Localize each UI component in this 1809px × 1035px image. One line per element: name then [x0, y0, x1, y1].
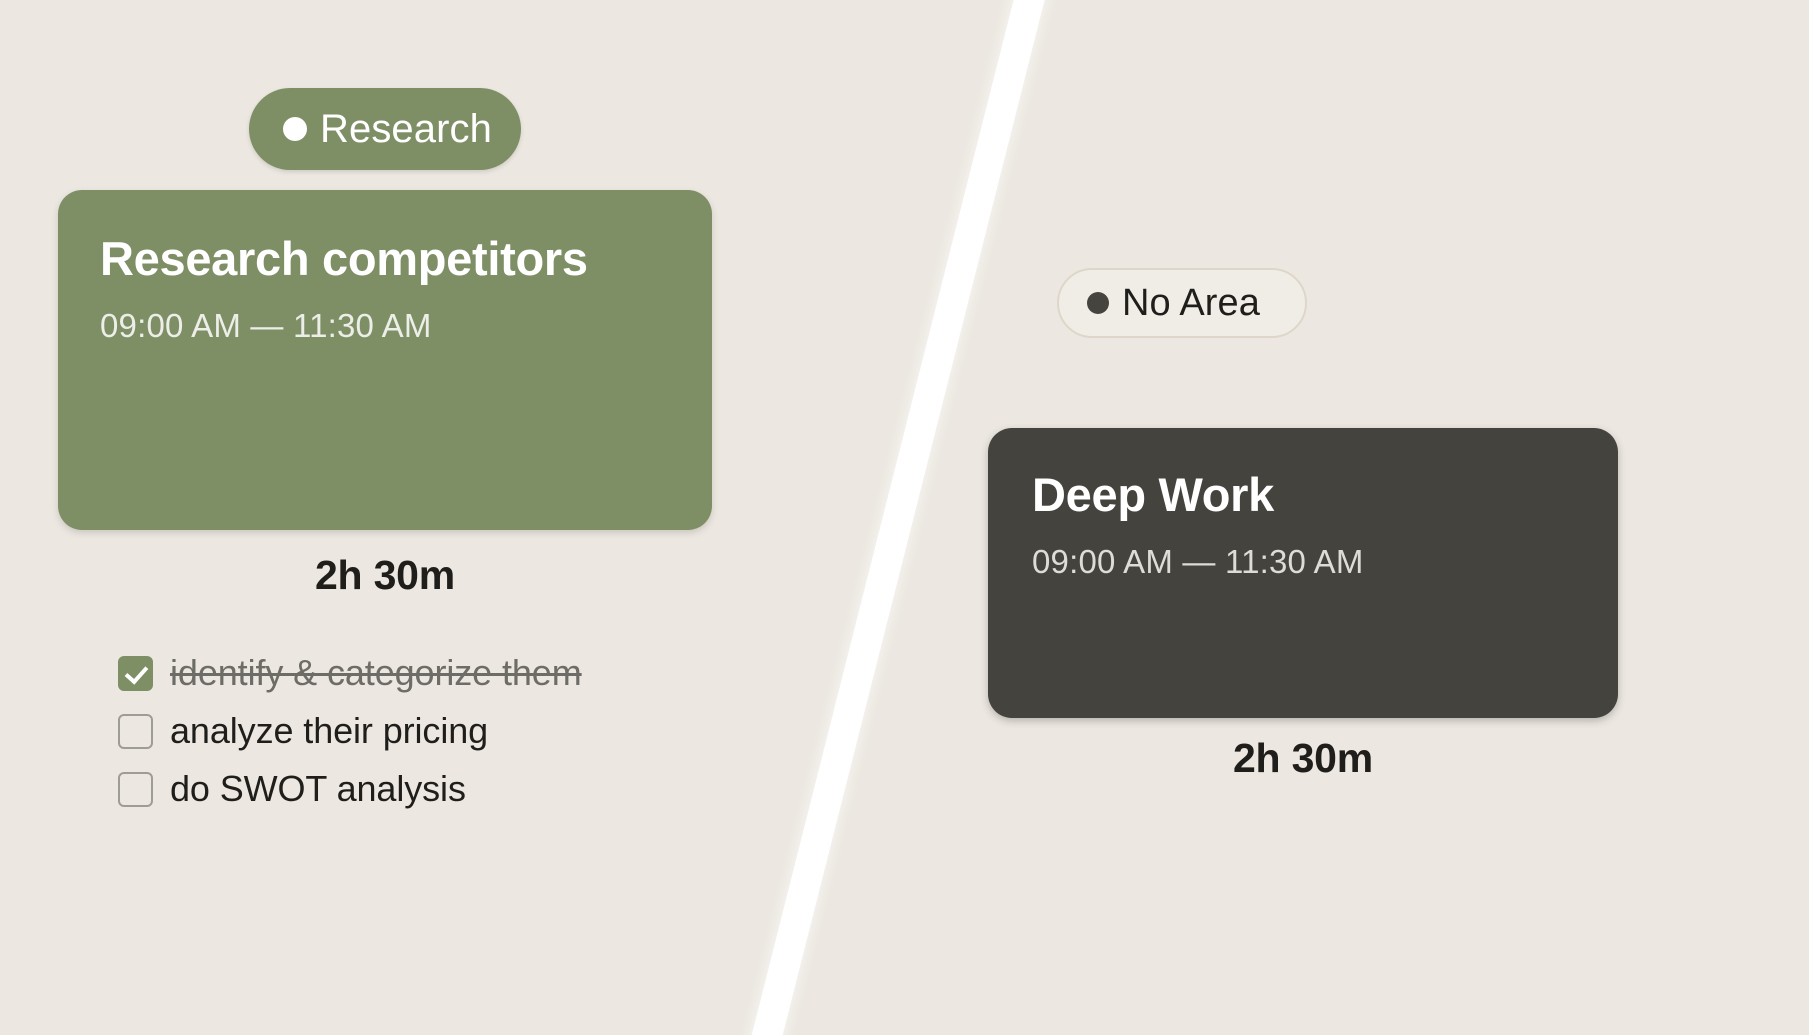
checkbox-unchecked-icon[interactable] — [118, 772, 153, 807]
checklist-item-label: analyze their pricing — [170, 713, 488, 749]
subtask-checklist: identify & categorize them analyze their… — [118, 644, 718, 818]
checklist-item[interactable]: do SWOT analysis — [118, 760, 718, 818]
task-card-deep-work[interactable]: Deep Work 09:00 AM — 11:30 AM — [988, 428, 1618, 718]
task-card-time-range: 09:00 AM — 11:30 AM — [1032, 545, 1574, 578]
area-badge-research[interactable]: Research — [249, 88, 521, 170]
task-duration-right: 2h 30m — [988, 735, 1618, 782]
task-card-title: Deep Work — [1032, 470, 1574, 519]
task-card-time-range: 09:00 AM — 11:30 AM — [100, 309, 670, 342]
area-color-dot-icon — [1087, 292, 1109, 314]
right-panel: No Area Deep Work 09:00 AM — 11:30 AM 2h… — [880, 0, 1809, 1035]
checklist-item[interactable]: identify & categorize them — [118, 644, 718, 702]
comparison-canvas: Research Research competitors 09:00 AM —… — [0, 0, 1809, 1035]
checkbox-checked-icon[interactable] — [118, 656, 153, 691]
task-duration-left: 2h 30m — [58, 552, 712, 599]
checklist-item-label: do SWOT analysis — [170, 771, 466, 807]
area-badge-label: No Area — [1122, 284, 1260, 322]
task-card-research[interactable]: Research competitors 09:00 AM — 11:30 AM — [58, 190, 712, 530]
checklist-item-label: identify & categorize them — [170, 655, 582, 691]
checklist-item[interactable]: analyze their pricing — [118, 702, 718, 760]
task-card-title: Research competitors — [100, 234, 670, 283]
area-badge-label: Research — [320, 109, 492, 149]
left-panel: Research Research competitors 09:00 AM —… — [0, 0, 880, 1035]
checkbox-unchecked-icon[interactable] — [118, 714, 153, 749]
area-color-dot-icon — [283, 117, 307, 141]
area-badge-no-area[interactable]: No Area — [1057, 268, 1307, 338]
